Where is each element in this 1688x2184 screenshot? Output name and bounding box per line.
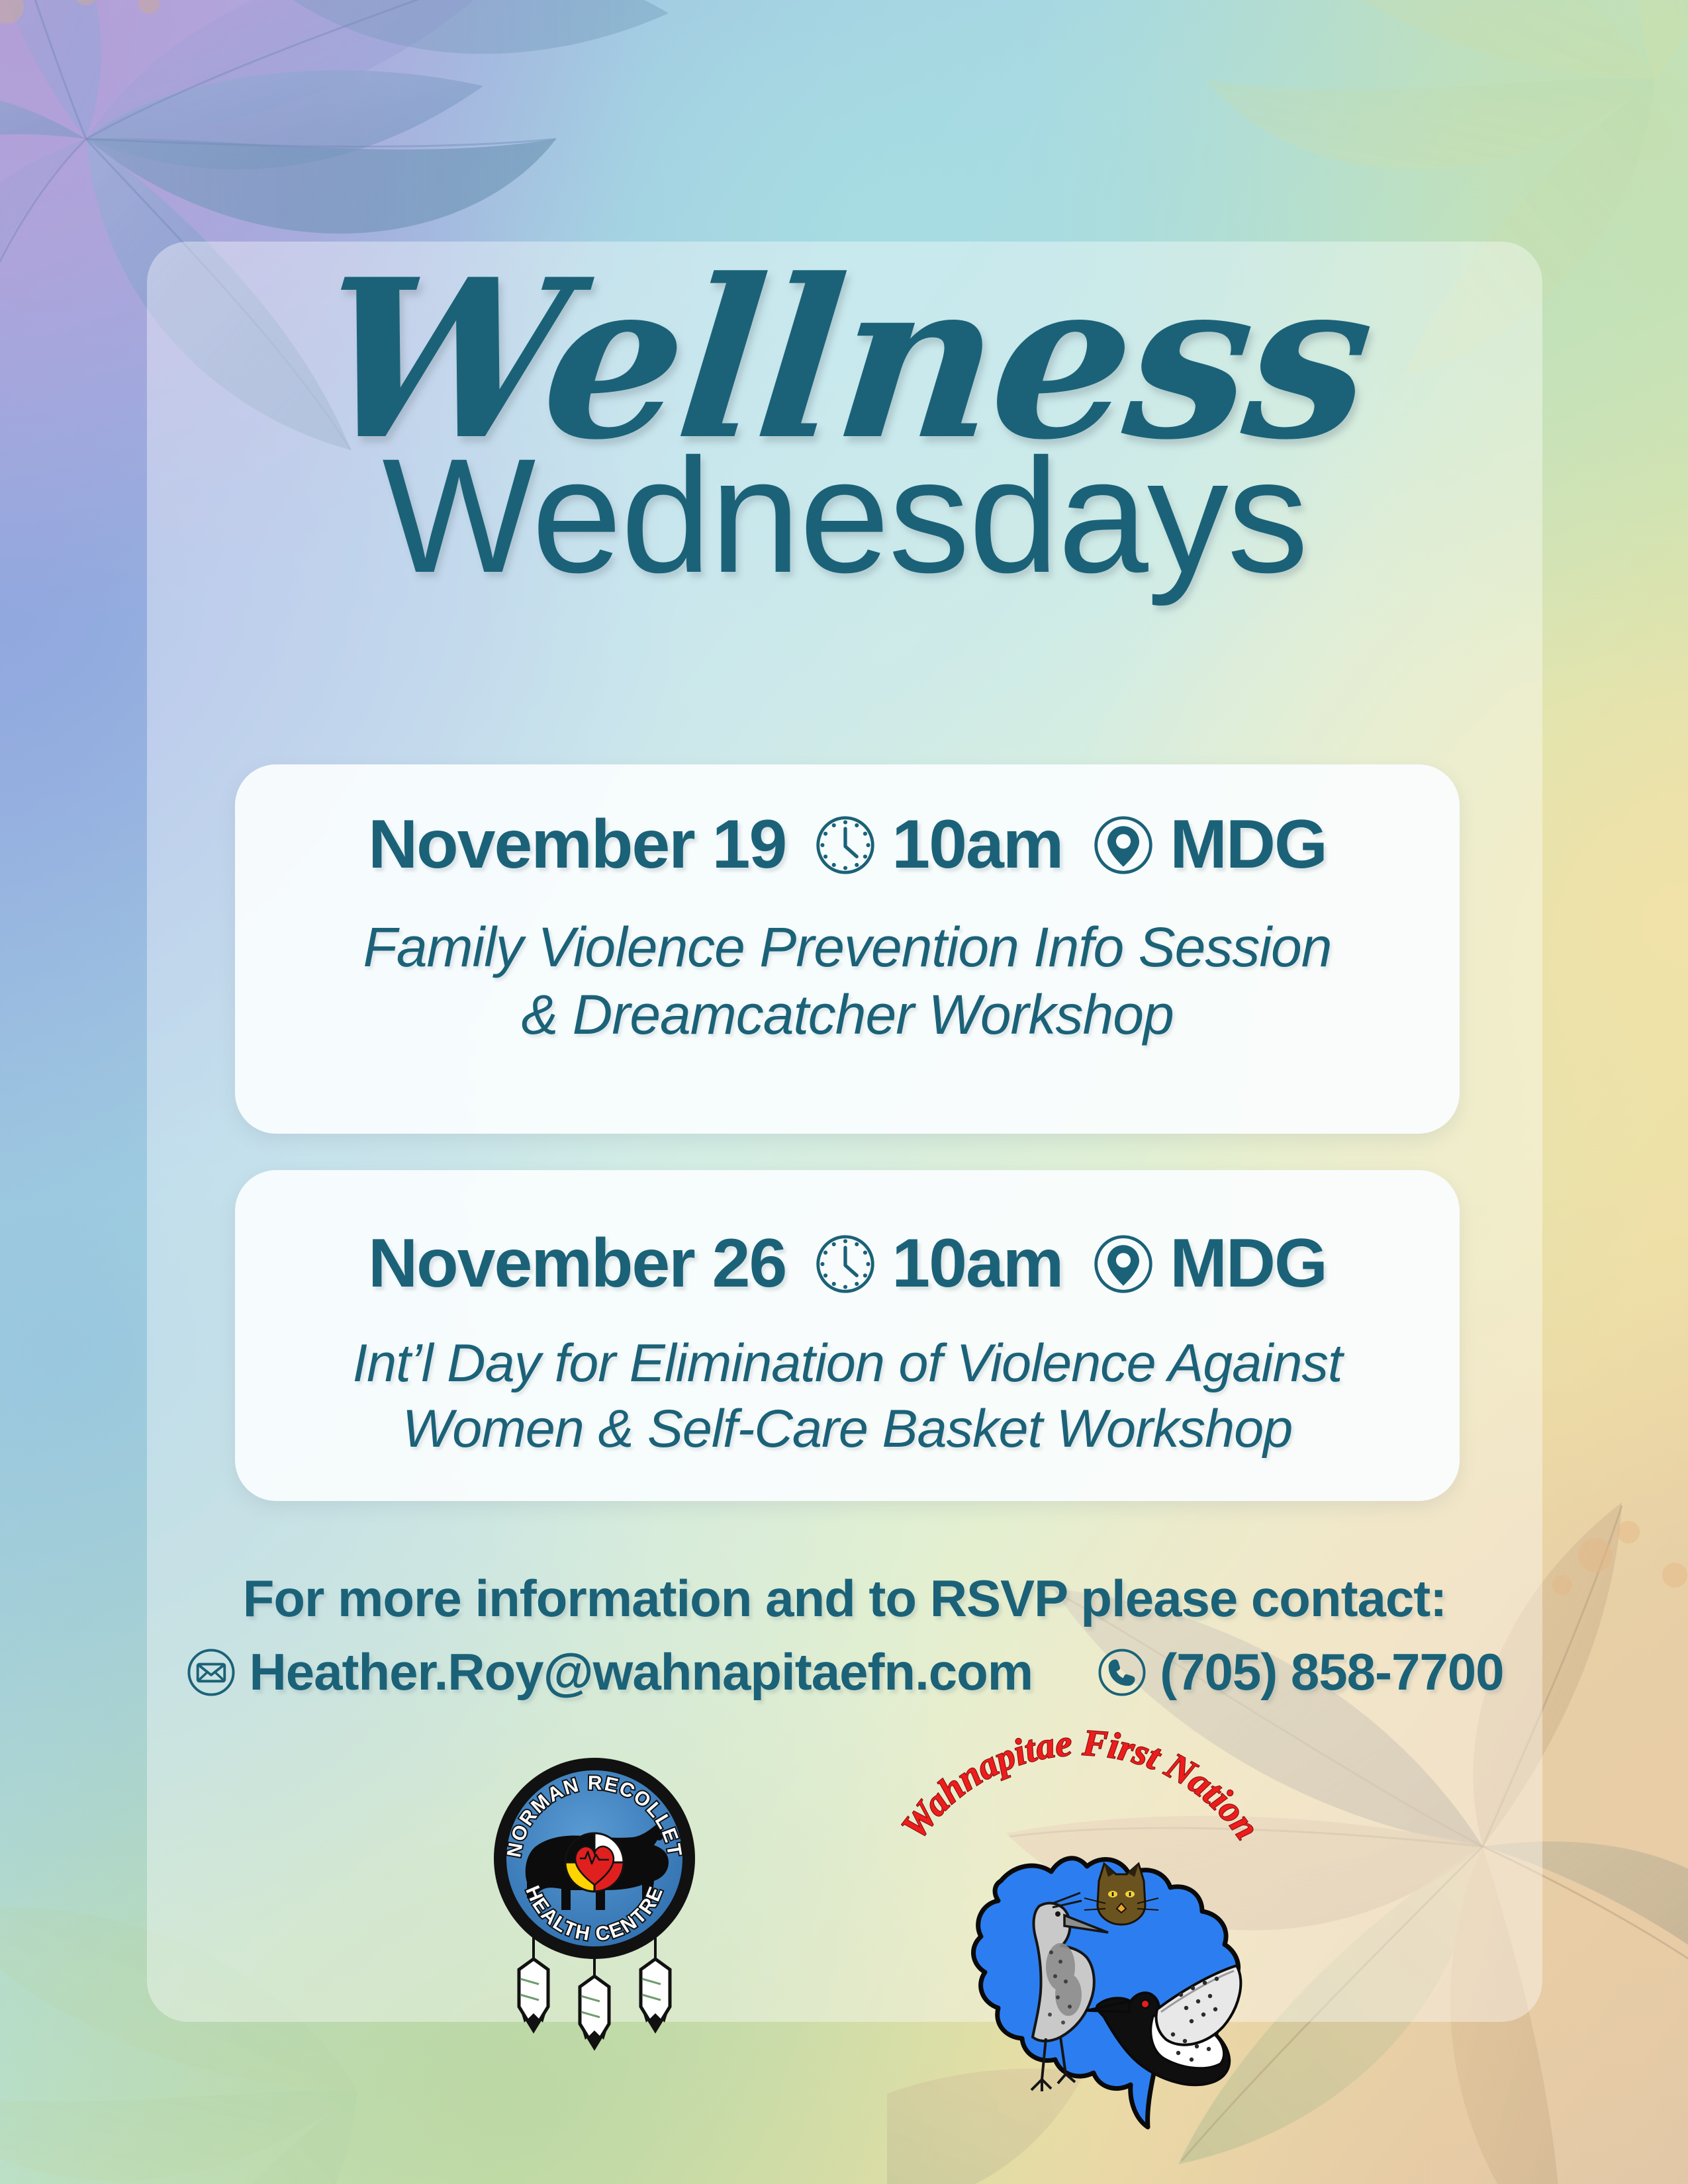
- contact-section: For more information and to RSVP please …: [147, 1570, 1542, 1702]
- contact-email[interactable]: Heather.Roy@wahnapitaefn.com: [185, 1642, 1033, 1702]
- contact-phone-text: (705) 858-7700: [1160, 1642, 1503, 1702]
- contact-lines: Heather.Roy@wahnapitaefn.com (705) 858-7…: [147, 1642, 1542, 1702]
- envelope-icon: [185, 1647, 237, 1698]
- location-pin-icon: [1092, 813, 1155, 877]
- event-description: Family Violence Prevention Info Session …: [235, 884, 1460, 1049]
- wahnapitae-first-nation-logo: Wahnapitae First Nation: [862, 1749, 1299, 2146]
- contact-email-text: Heather.Roy@wahnapitaefn.com: [249, 1642, 1033, 1702]
- event-header: November 26 10am: [235, 1170, 1460, 1303]
- clock-icon: [814, 813, 877, 877]
- contact-phone[interactable]: (705) 858-7700: [1096, 1642, 1503, 1702]
- event-date: November 19: [368, 805, 786, 884]
- event-date: November 26: [368, 1224, 786, 1303]
- event-description-line-2: Women & Self-Care Basket Workshop: [277, 1396, 1417, 1462]
- clock-icon: [814, 1232, 877, 1296]
- page-title-script: Wellness: [136, 258, 1553, 461]
- location-pin-icon: [1092, 1232, 1155, 1296]
- event-description: Int’l Day for Elimination of Violence Ag…: [235, 1303, 1460, 1462]
- event-description-line-1: Family Violence Prevention Info Session: [277, 913, 1417, 981]
- event-time: 10am: [892, 805, 1062, 884]
- event-card: November 26 10am: [235, 1170, 1460, 1501]
- event-description-line-1: Int’l Day for Elimination of Violence Ag…: [277, 1331, 1417, 1396]
- event-description-line-2: & Dreamcatcher Workshop: [277, 981, 1417, 1048]
- event-card: November 19 10am: [235, 764, 1460, 1134]
- event-header: November 19 10am: [235, 764, 1460, 884]
- event-location: MDG: [1170, 805, 1327, 884]
- event-location: MDG: [1170, 1224, 1327, 1303]
- logo-row: NORMAN RECOLLET HEALTH CENTRE: [147, 1747, 1542, 2171]
- poster-canvas: Wellness Wednesdays November 19: [0, 0, 1688, 2184]
- poster-headline: Wellness Wednesdays: [147, 258, 1542, 594]
- event-time: 10am: [892, 1224, 1062, 1303]
- phone-icon: [1096, 1647, 1148, 1698]
- contact-prompt: For more information and to RSVP please …: [147, 1570, 1542, 1627]
- norman-recollet-health-centre-logo: NORMAN RECOLLET HEALTH CENTRE: [489, 1752, 700, 2037]
